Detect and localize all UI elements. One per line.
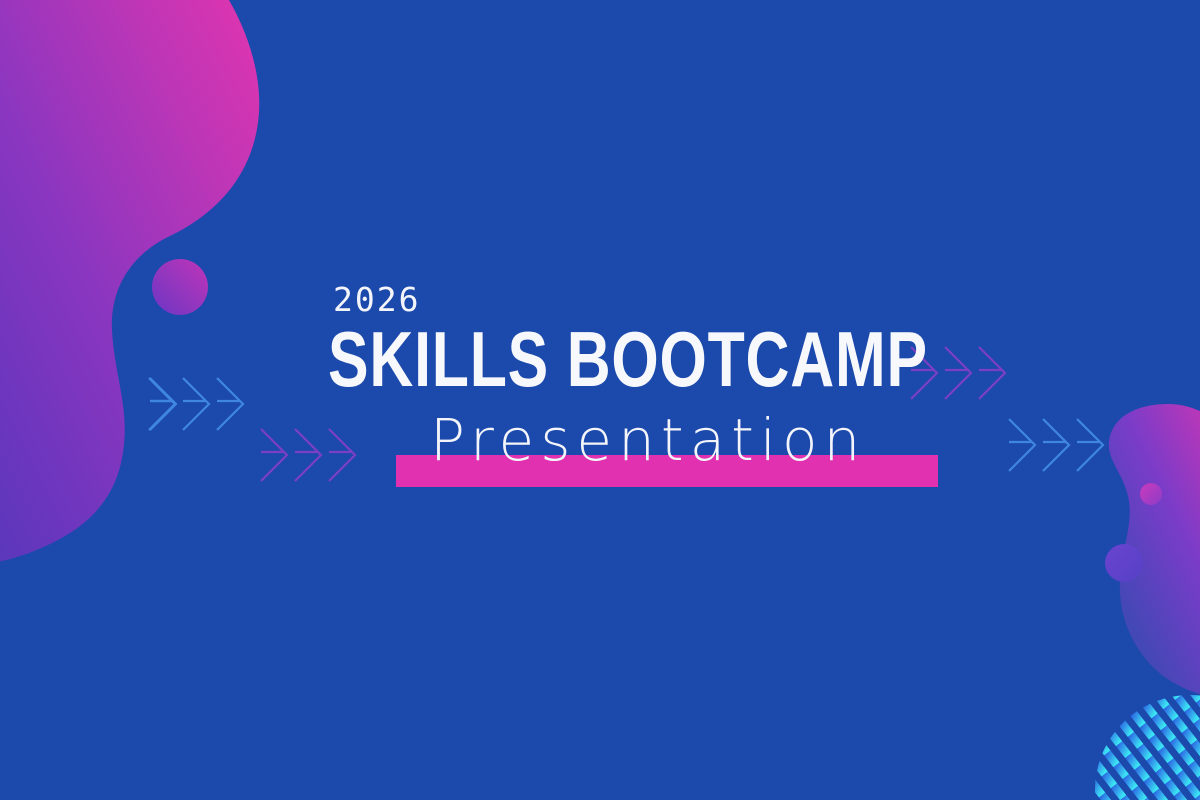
slide-year: 2026 <box>333 283 420 316</box>
title-block: 2026 SKILLS BOOTCAMP Presentation <box>0 0 1200 800</box>
slide-headline: SKILLS BOOTCAMP <box>328 322 928 396</box>
slide-subtitle: Presentation <box>430 411 866 469</box>
presentation-slide: 2026 SKILLS BOOTCAMP Presentation <box>0 0 1200 800</box>
